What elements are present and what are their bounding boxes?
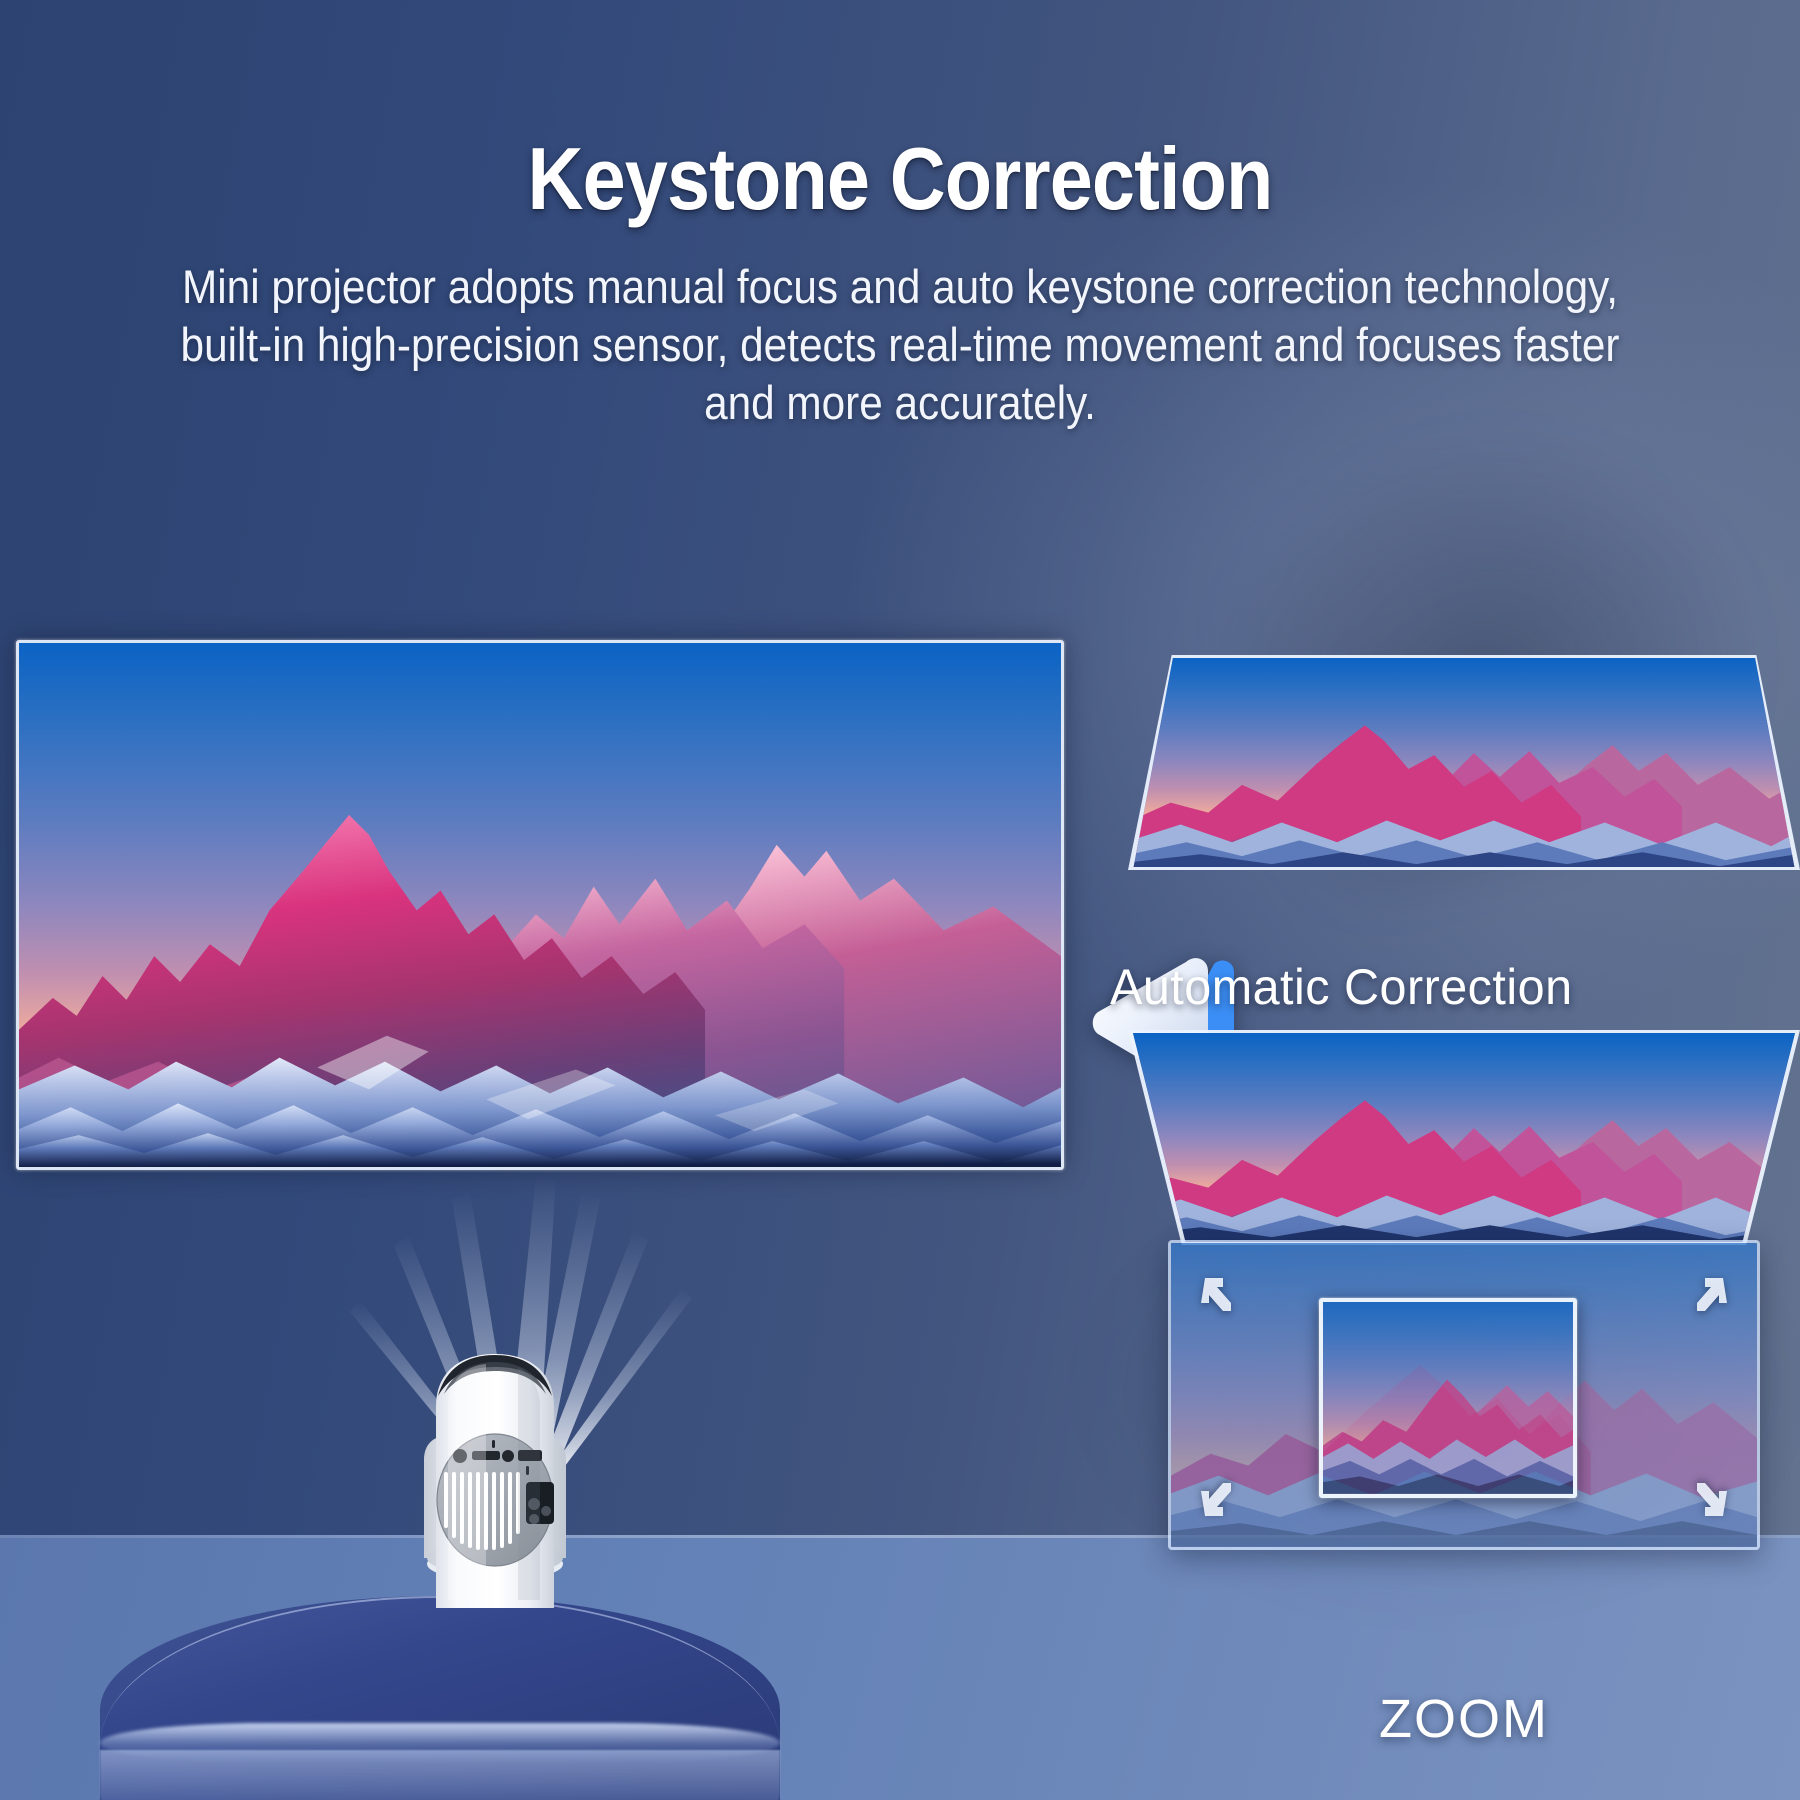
zoom-inner-frame: [1319, 1298, 1577, 1498]
corner-arrow-bottom-left-icon: [1199, 1477, 1241, 1521]
promo-canvas: Keystone Correction Mini projector adopt…: [0, 0, 1800, 1800]
zoom-panel: [1168, 1240, 1760, 1550]
indicator-led: [492, 1440, 495, 1448]
main-projection-screen: [16, 640, 1064, 1170]
mountain-ridges-thumb-bottom: [1131, 1033, 1797, 1242]
zoom-label: ZOOM: [1168, 1688, 1760, 1750]
mountain-scene-zoom-inner: [1323, 1302, 1573, 1494]
keystone-thumb-bottom: [1128, 1030, 1800, 1245]
mountain-scene-main: [19, 643, 1061, 1167]
mountain-ridges-thumb-top: [1131, 658, 1797, 867]
keystone-thumb-top-image: [1131, 658, 1797, 867]
mini-projector-device: [400, 1348, 590, 1608]
mountain-scene-thumb-top: [1131, 658, 1797, 867]
keystone-thumb-top: [1128, 655, 1800, 870]
automatic-correction-label: Automatic Correction: [1110, 958, 1779, 1016]
mountain-scene-thumb-bottom: [1131, 1033, 1797, 1242]
port-round: [502, 1450, 514, 1462]
corner-arrow-bottom-right-icon: [1687, 1477, 1729, 1521]
pedestal-side: [100, 1750, 780, 1800]
mountain-ridges-main: [19, 643, 1061, 1167]
mountain-ridges-zoom-inner: [1323, 1302, 1573, 1494]
page-title: Keystone Correction: [108, 128, 1692, 230]
corner-arrow-top-right-icon: [1687, 1273, 1729, 1317]
corner-arrow-top-left-icon: [1199, 1273, 1241, 1317]
keystone-thumb-bottom-image: [1131, 1033, 1797, 1242]
page-subtitle: Mini projector adopts manual focus and a…: [171, 258, 1629, 432]
